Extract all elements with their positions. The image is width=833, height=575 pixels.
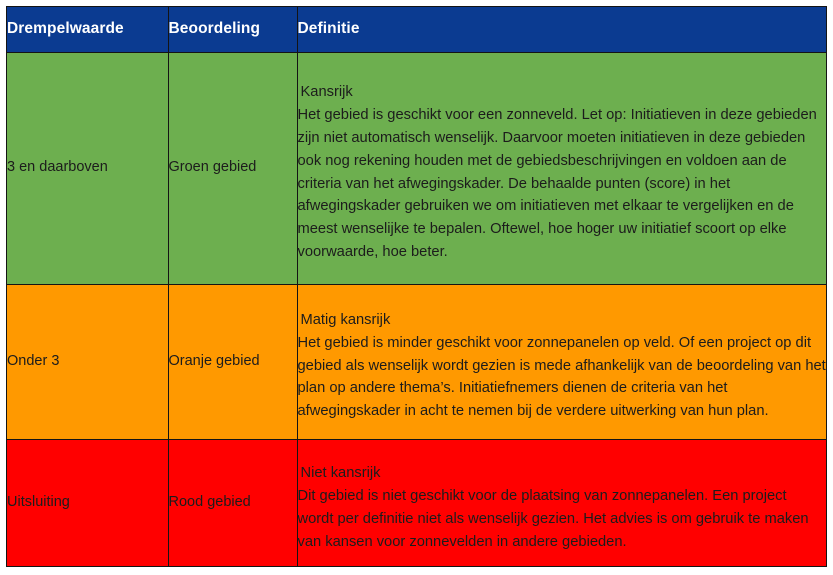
cell-rating-green: Groen gebied: [168, 52, 297, 284]
definition-body-red: Dit gebied is niet geschikt voor de plaa…: [298, 485, 827, 554]
cell-rating-red: Rood gebied: [168, 439, 297, 566]
page-root: Drempelwaarde Beoordeling Definitie 3 en…: [0, 0, 833, 575]
cell-threshold-red: Uitsluiting: [7, 439, 168, 566]
definition-body-green: Het gebied is geschikt voor een zonnevel…: [298, 104, 827, 264]
definition-title-red: Niet kansrijk: [298, 462, 827, 485]
cell-definition-green: Kansrijk Het gebied is geschikt voor een…: [297, 52, 826, 284]
table-header: Drempelwaarde Beoordeling Definitie: [7, 7, 826, 52]
table-row-red: Uitsluiting Rood gebied Niet kansrijk Di…: [7, 439, 826, 566]
definition-title-green: Kansrijk: [298, 81, 827, 104]
header-beoordeling: Beoordeling: [168, 7, 297, 52]
rating-label-green: Groen gebied: [169, 157, 297, 178]
rating-label-orange: Oranje gebied: [169, 351, 297, 372]
table-body: 3 en daarboven Groen gebied Kansrijk Het…: [7, 52, 826, 566]
header-drempelwaarde: Drempelwaarde: [7, 7, 168, 52]
threshold-assessment-table-wrapper: Drempelwaarde Beoordeling Definitie 3 en…: [6, 6, 827, 567]
table-header-row: Drempelwaarde Beoordeling Definitie: [7, 7, 826, 52]
threshold-assessment-table: Drempelwaarde Beoordeling Definitie 3 en…: [7, 7, 826, 566]
rating-label-red: Rood gebied: [169, 492, 297, 513]
header-definitie: Definitie: [297, 7, 826, 52]
definition-orange: Matig kansrijk Het gebied is minder gesc…: [298, 300, 827, 424]
table-row-orange: Onder 3 Oranje gebied Matig kansrijk Het…: [7, 284, 826, 439]
definition-title-orange: Matig kansrijk: [298, 309, 827, 332]
cell-definition-orange: Matig kansrijk Het gebied is minder gesc…: [297, 284, 826, 439]
definition-red: Niet kansrijk Dit gebied is niet geschik…: [298, 451, 827, 554]
cell-threshold-orange: Onder 3: [7, 284, 168, 439]
definition-body-orange: Het gebied is minder geschikt voor zonne…: [298, 332, 827, 424]
definition-green: Kansrijk Het gebied is geschikt voor een…: [298, 72, 827, 264]
cell-rating-orange: Oranje gebied: [168, 284, 297, 439]
cell-definition-red: Niet kansrijk Dit gebied is niet geschik…: [297, 439, 826, 566]
table-row-green: 3 en daarboven Groen gebied Kansrijk Het…: [7, 52, 826, 284]
cell-threshold-green: 3 en daarboven: [7, 52, 168, 284]
